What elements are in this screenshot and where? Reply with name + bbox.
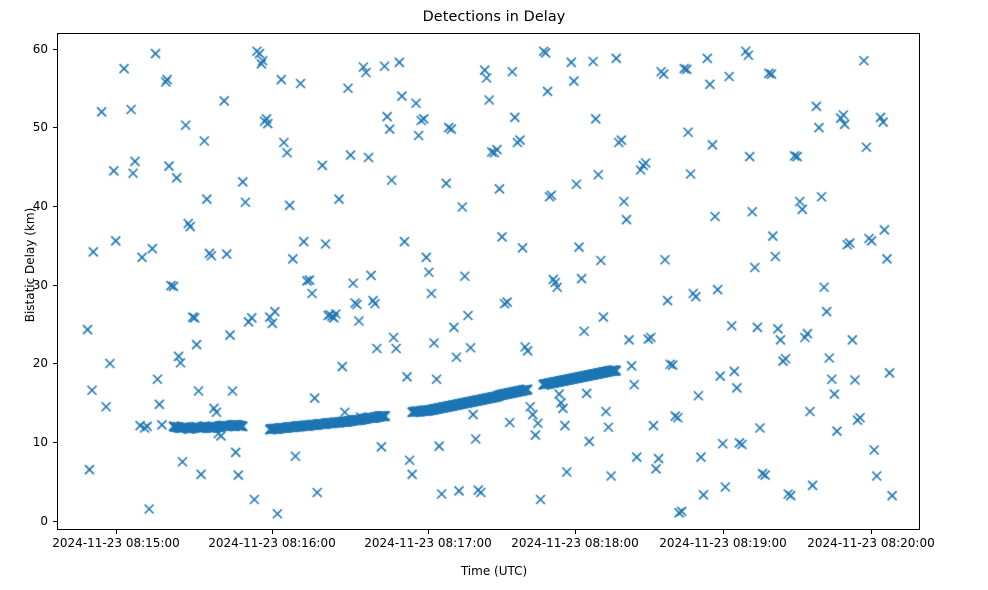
x-tick-mark [871, 530, 872, 534]
x-tick-mark [116, 530, 117, 534]
matplotlib-figure: Detections in Delay 0102030405060 2024-1… [0, 0, 988, 590]
y-tick-mark [53, 285, 57, 286]
y-tick-mark [53, 363, 57, 364]
y-axis-label: Bistatic Delay (km) [23, 125, 37, 405]
y-tick-mark [53, 521, 57, 522]
x-axis-label: Time (UTC) [0, 564, 988, 578]
y-tick-label: 0 [40, 514, 48, 528]
x-tick-mark [575, 530, 576, 534]
x-tick-label: 2024-11-23 08:19:00 [659, 536, 786, 550]
y-tick-mark [53, 206, 57, 207]
x-tick-label: 2024-11-23 08:20:00 [807, 536, 934, 550]
x-tick-mark [723, 530, 724, 534]
x-tick-mark [428, 530, 429, 534]
y-tick-mark [53, 442, 57, 443]
y-tick-mark [53, 127, 57, 128]
x-tick-mark [272, 530, 273, 534]
x-tick-label: 2024-11-23 08:18:00 [511, 536, 638, 550]
y-tick-label: 10 [33, 435, 48, 449]
y-tick-mark [53, 49, 57, 50]
x-tick-label: 2024-11-23 08:15:00 [52, 536, 179, 550]
scatter-plot-canvas [58, 34, 920, 530]
chart-title: Detections in Delay [0, 9, 988, 25]
x-tick-label: 2024-11-23 08:16:00 [208, 536, 335, 550]
x-tick-label: 2024-11-23 08:17:00 [364, 536, 491, 550]
y-tick-label: 60 [33, 42, 48, 56]
plot-axes-area [57, 33, 920, 530]
